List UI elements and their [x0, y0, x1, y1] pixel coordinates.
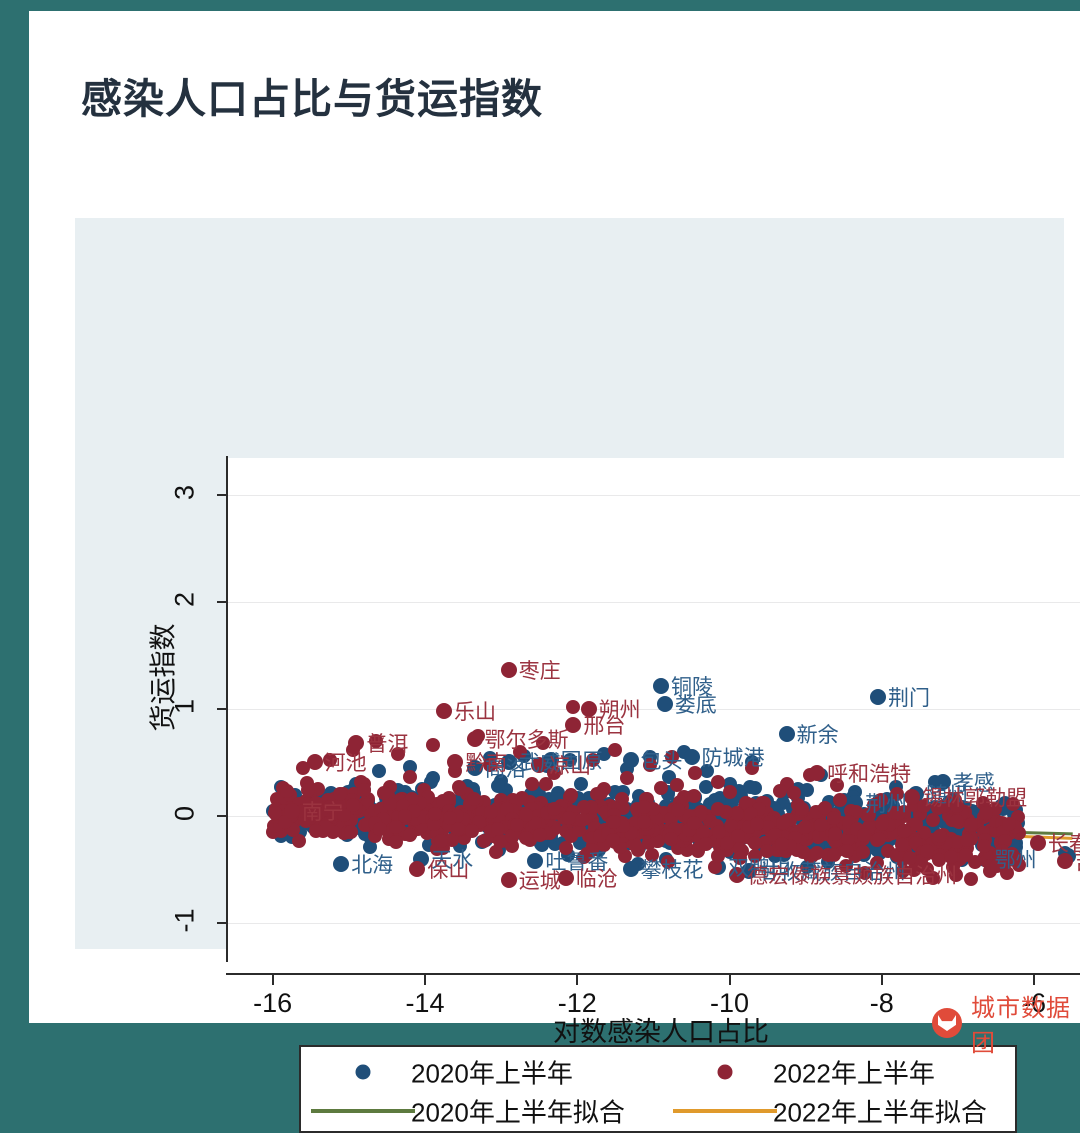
point-label: 河池 [325, 747, 367, 777]
point-label: 北海 [351, 849, 393, 879]
scatter-point [1002, 817, 1016, 831]
scatter-point [959, 848, 973, 862]
point-label: 防城港 [702, 742, 765, 772]
scatter-point [827, 811, 841, 825]
point-label: 荆州 [865, 788, 907, 818]
point-label: 乐山 [454, 696, 496, 726]
point-label: 呼和浩特 [827, 758, 911, 788]
x-tick-mark [729, 975, 731, 985]
scatter-point [950, 814, 964, 828]
scatter-point [301, 783, 315, 797]
scatter-point [748, 836, 762, 850]
point-label: 运城 [519, 865, 561, 895]
point-label: 枣庄 [519, 655, 561, 685]
point-label: 南宁 [302, 796, 344, 826]
point-label: 包头 [641, 745, 683, 775]
scatter-point [564, 788, 578, 802]
y-tick-mark [217, 494, 226, 496]
scatter-point [684, 749, 700, 765]
scatter-point [964, 818, 978, 832]
legend-marker-dot [356, 1065, 371, 1080]
scatter-point [398, 809, 412, 823]
scatter-point [426, 738, 440, 752]
chart-panel: 铜陵娄底荆门新余孝感随州荆州鄂州天水吐鲁番攀枝花双鸭山甘孜藏族自治州北海固原包头… [75, 218, 1064, 949]
scatter-point [926, 813, 940, 827]
scatter-point [389, 835, 403, 849]
scatter-point [664, 832, 678, 846]
scatter-point [712, 825, 726, 839]
scatter-point [699, 837, 713, 851]
point-label: 锡林郭勒盟 [922, 782, 1027, 812]
scatter-point [403, 828, 417, 842]
scatter-point [577, 800, 591, 814]
point-label: 吉林 [1075, 846, 1080, 876]
scatter-point [403, 770, 417, 784]
scatter-point [389, 820, 403, 834]
plot-area: 铜陵娄底荆门新余孝感随州荆州鄂州天水吐鲁番攀枝花双鸭山甘孜藏族自治州北海固原包头… [227, 458, 1080, 960]
x-tick-mark [576, 975, 578, 985]
scatter-point [809, 765, 825, 781]
scatter-point [377, 786, 391, 800]
point-label: 保山 [427, 854, 469, 884]
scatter-point [547, 802, 561, 816]
chart-legend: 2020年上半年2022年上半年2020年上半年拟合2022年上半年拟合 [299, 1045, 1017, 1133]
card-surface: 感染人口占比与货运指数 铜陵娄底荆门新余孝感随州荆州鄂州天水吐鲁番攀枝花双鸭山甘… [29, 11, 1080, 1023]
point-label: 朔州 [599, 694, 641, 724]
scatter-point [428, 807, 442, 821]
legend-marker-line [673, 1109, 777, 1113]
scatter-point [307, 754, 323, 770]
scatter-point [436, 703, 452, 719]
scatter-point [897, 824, 911, 838]
scatter-point [687, 789, 701, 803]
y-tick-mark [217, 922, 226, 924]
scatter-point [654, 781, 668, 795]
y-tick-label: 0 [170, 793, 201, 833]
y-axis-line [226, 456, 228, 962]
y-tick-label: -1 [170, 900, 201, 940]
scatter-point [346, 798, 360, 812]
scatter-point [594, 786, 608, 800]
point-label: 临沧 [576, 863, 618, 893]
gridline [227, 709, 1080, 710]
scatter-point [467, 792, 481, 806]
legend-label: 2022年上半年 [773, 1054, 935, 1091]
scatter-point [501, 872, 517, 888]
scatter-point [977, 839, 991, 853]
scatter-point [510, 818, 524, 832]
x-axis-line [226, 973, 1080, 975]
scatter-point [484, 805, 498, 819]
fox-logo-icon [932, 1008, 962, 1038]
scatter-point [787, 786, 801, 800]
scatter-point [533, 828, 547, 842]
scatter-point [333, 856, 349, 872]
point-label: 黔南 [465, 747, 507, 777]
scatter-point [870, 689, 886, 705]
scatter-point [501, 662, 517, 678]
scatter-point [670, 778, 684, 792]
gridline [227, 923, 1080, 924]
scatter-point [309, 824, 323, 838]
scatter-point [872, 832, 886, 846]
scatter-point [964, 872, 978, 886]
scatter-point [687, 816, 701, 830]
scatter-point [711, 802, 725, 816]
x-tick-mark [424, 975, 426, 985]
brand-name: 城市数据团 [971, 988, 1080, 1058]
scatter-point [623, 861, 639, 877]
scatter-point [562, 811, 576, 825]
legend-label: 2020年上半年 [411, 1054, 573, 1091]
scatter-point [723, 785, 737, 799]
scatter-point [960, 833, 974, 847]
legend-label: 2020年上半年拟合 [411, 1093, 625, 1130]
point-label: 新余 [797, 719, 839, 749]
scatter-point [467, 731, 483, 747]
point-label: 凉山 [549, 750, 591, 780]
legend-label: 2022年上半年拟合 [773, 1093, 987, 1130]
scatter-point [920, 844, 934, 858]
scatter-point [875, 817, 889, 831]
y-tick-mark [217, 708, 226, 710]
brand-logo: 城市数据团 [932, 988, 1080, 1058]
point-label: 普洱 [366, 728, 408, 758]
scatter-point [453, 782, 467, 796]
scatter-point [344, 825, 358, 839]
scatter-point [566, 700, 580, 714]
scatter-point [773, 784, 787, 798]
scatter-point [606, 833, 620, 847]
scatter-point [800, 783, 814, 797]
scatter-point [779, 726, 795, 742]
scatter-point [671, 803, 685, 817]
point-label: 攀枝花 [641, 854, 704, 884]
scatter-point [284, 803, 300, 819]
point-label: 娄底 [675, 689, 717, 719]
scatter-point [776, 816, 790, 830]
point-label: 鄂州 [995, 844, 1037, 874]
scatter-point [637, 815, 651, 829]
scatter-point [750, 817, 764, 831]
scatter-point [637, 800, 651, 814]
scatter-point [607, 815, 621, 829]
y-tick-mark [217, 601, 226, 603]
point-label: 德宏傣族景颇族自治州 [747, 860, 957, 890]
scatter-point [575, 813, 589, 827]
scatter-point [933, 829, 947, 843]
scatter-point [798, 820, 812, 834]
scatter-point [688, 766, 702, 780]
scatter-point [857, 828, 871, 842]
scatter-point [372, 764, 386, 778]
y-tick-mark [217, 815, 226, 817]
scatter-point [443, 811, 457, 825]
point-label: 荆门 [888, 682, 930, 712]
scatter-point [357, 783, 371, 797]
scatter-point [711, 775, 725, 789]
x-tick-mark [272, 975, 274, 985]
scatter-point [775, 837, 789, 851]
scatter-point [711, 849, 725, 863]
legend-marker-line [311, 1109, 415, 1113]
page-title: 感染人口占比与货运指数 [81, 65, 543, 125]
scatter-point [833, 793, 847, 807]
scatter-point [525, 777, 539, 791]
scatter-point [447, 754, 463, 770]
legend-marker-dot [718, 1065, 733, 1080]
y-axis-title: 货运指数 [142, 578, 181, 778]
scatter-point [280, 784, 294, 798]
scatter-point [795, 802, 809, 816]
x-tick-mark [881, 975, 883, 985]
scatter-point [373, 822, 387, 836]
scatter-point [409, 861, 425, 877]
scatter-point [653, 678, 669, 694]
scatter-point [465, 824, 479, 838]
scatter-point [828, 827, 842, 841]
scatter-point [620, 771, 634, 785]
y-tick-label: 3 [170, 473, 201, 513]
scatter-point [623, 752, 639, 768]
scatter-point [519, 831, 533, 845]
scatter-point [895, 838, 909, 852]
scatter-point [491, 822, 505, 836]
x-tick-mark [1033, 975, 1035, 985]
poster-page: 感染人口占比与货运指数 铜陵娄底荆门新余孝感随州荆州鄂州天水吐鲁番攀枝花双鸭山甘… [0, 0, 1080, 1036]
gridline [227, 495, 1080, 496]
gridline [227, 602, 1080, 603]
scatter-point [814, 818, 828, 832]
scatter-point [731, 829, 745, 843]
scatter-point [743, 780, 757, 794]
scatter-point [608, 743, 622, 757]
